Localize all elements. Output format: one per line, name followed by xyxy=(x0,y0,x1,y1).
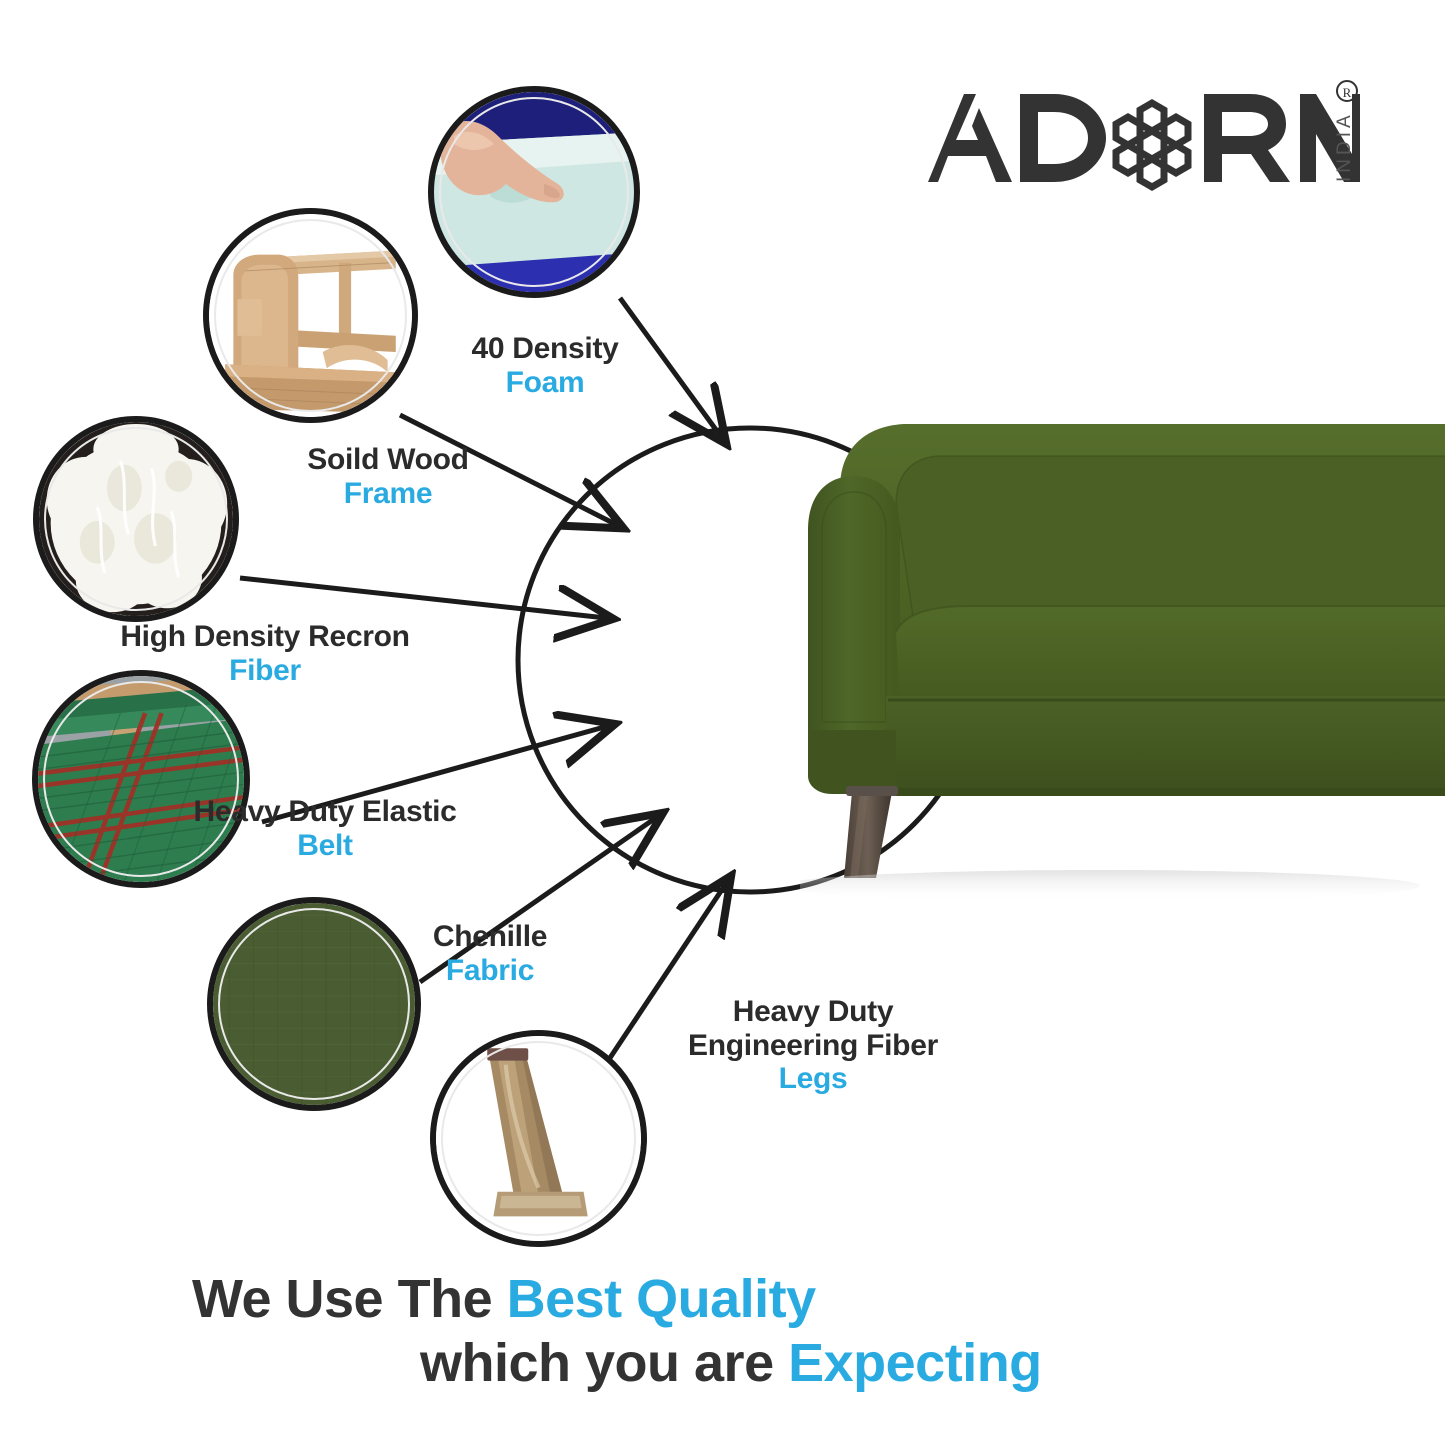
wooden-sofa-frame-icon xyxy=(209,214,412,417)
brand-logo: INDIA R xyxy=(920,78,1360,198)
label-wood-frame: Soild Wood Frame xyxy=(243,443,533,510)
bubble-foam[interactable] xyxy=(428,86,640,298)
label-wood-frame-title: Soild Wood xyxy=(243,443,533,477)
tapered-plastic-leg-icon xyxy=(436,1036,641,1241)
arrow-fiber xyxy=(240,578,606,618)
svg-text:R: R xyxy=(1343,85,1352,100)
tagline-line-1: We Use The Best Quality xyxy=(120,1268,1200,1332)
bubble-fiber-legs[interactable] xyxy=(430,1030,647,1247)
tagline-line2-plain: which you are xyxy=(420,1333,788,1393)
green-sofa-image xyxy=(800,400,1445,920)
label-foam: 40 Density Foam xyxy=(400,332,690,399)
tagline-line-2: which you are Expecting xyxy=(120,1332,1200,1396)
sofa-leg xyxy=(844,792,892,878)
label-chenille-fabric-accent: Fabric xyxy=(345,954,635,988)
label-fiber-legs-line2: Engineering Fiber xyxy=(648,1029,978,1063)
product-infographic: INDIA R xyxy=(0,0,1445,1445)
label-fiber-legs-line1: Heavy Duty xyxy=(648,995,978,1029)
tagline-line1-plain: We Use The xyxy=(192,1269,507,1329)
bubble-wood-frame[interactable] xyxy=(203,208,418,423)
tagline-line2-accent: Expecting xyxy=(788,1333,1042,1393)
svg-text:INDIA: INDIA xyxy=(1334,111,1355,182)
label-foam-accent: Foam xyxy=(400,366,690,400)
label-foam-title: 40 Density xyxy=(400,332,690,366)
label-fiber-legs-accent: Legs xyxy=(648,1062,978,1096)
label-elastic-belt: Heavy Duty Elastic Belt xyxy=(115,795,535,862)
label-chenille-fabric: Chenille Fabric xyxy=(345,920,635,987)
label-elastic-belt-accent: Belt xyxy=(115,829,535,863)
label-chenille-fabric-title: Chenille xyxy=(345,920,635,954)
tagline-line1-accent: Best Quality xyxy=(507,1269,816,1329)
label-fiber-legs: Heavy Duty Engineering Fiber Legs xyxy=(648,995,978,1096)
tagline: We Use The Best Quality which you are Ex… xyxy=(120,1268,1200,1395)
bubble-recron-fiber[interactable] xyxy=(33,416,239,622)
white-fluffy-fiber-icon xyxy=(39,422,233,616)
label-elastic-belt-title: Heavy Duty Elastic xyxy=(115,795,535,829)
hand-pressing-foam-icon xyxy=(434,92,634,292)
label-wood-frame-accent: Frame xyxy=(243,477,533,511)
label-recron-fiber-title: High Density Recron xyxy=(55,620,475,654)
